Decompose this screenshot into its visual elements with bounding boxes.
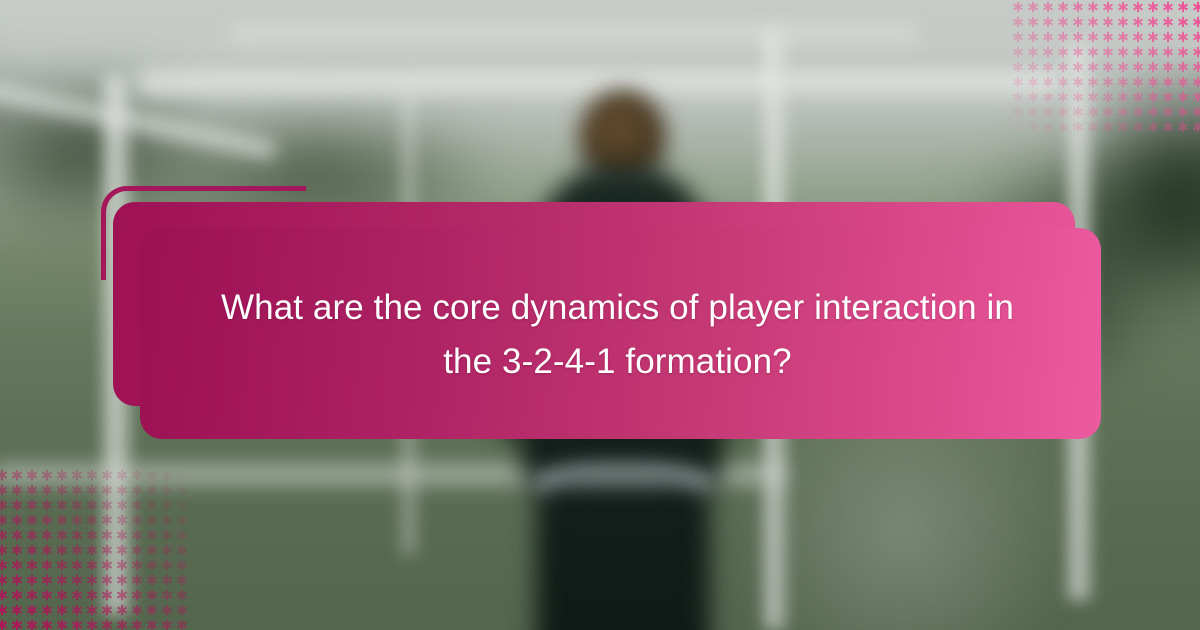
question-card-banner: What are the core dynamics of player int…	[0, 0, 1200, 630]
question-title: What are the core dynamics of player int…	[195, 281, 1041, 387]
question-card: What are the core dynamics of player int…	[140, 228, 1101, 439]
